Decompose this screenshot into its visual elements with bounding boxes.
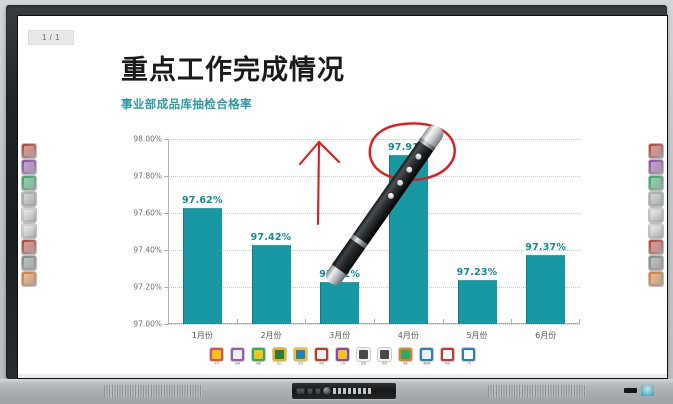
y-axis-tick-mark [164,139,168,140]
icon-glyph [651,162,661,172]
icon-glyph [651,226,661,236]
icon-glyph [443,350,452,359]
undo-tool-icon[interactable] [649,208,663,222]
stylus-button-4[interactable] [387,192,395,200]
gridline [168,324,580,325]
ribbon-item-label: 审阅 [319,362,324,365]
y-axis-tick-label: 97.00% [133,320,162,329]
color-palette-tool-icon[interactable] [649,176,663,190]
slideshow-tab[interactable]: 播放器 [419,348,435,365]
insert-tab[interactable]: 插入 [272,348,288,365]
chart-bar[interactable] [526,255,565,324]
ribbon-item-label: 段落 [361,362,366,365]
ribbon-item-label: 帮助 [445,362,450,365]
display-screen[interactable]: 1 / 1 重点工作完成情况 事业部成品库抽检合格率 97.62%97.42%9… [18,16,667,378]
x-axis-label: 2月份 [237,326,306,346]
select-cursor-tool-icon[interactable] [22,144,36,158]
eraser-tool-icon[interactable] [22,192,36,206]
ribbon-item-label: 版式 [382,362,387,365]
chart-bar[interactable] [252,245,291,324]
upload-tab[interactable]: 上传 [461,348,477,365]
ribbon-item-label: 工具 [340,362,345,365]
edit-icon[interactable] [231,348,244,361]
view-tab[interactable]: 视图 [251,348,267,365]
icon-glyph [296,350,305,359]
capture-tool-icon[interactable] [649,256,663,270]
review-tab[interactable]: 审阅 [314,348,330,365]
icon-glyph [651,210,661,220]
panel-button-8[interactable] [368,388,371,394]
review-icon[interactable] [315,348,328,361]
tools-icon[interactable] [336,348,349,361]
panel-button-4[interactable] [348,388,351,394]
ribbon-item-label: 上传 [466,362,471,365]
bottom-ribbon-toolbar[interactable]: 文件编辑视图插入格式审阅工具段落版式图表播放器帮助上传 [18,348,667,374]
chart-icon[interactable] [399,348,412,361]
panel-button-1[interactable] [333,388,336,394]
icon-glyph [24,162,34,172]
speaker-grille-right [488,385,586,398]
help-tab[interactable]: 帮助 [440,348,456,365]
power-knob[interactable] [323,387,331,395]
y-axis-tick-label: 98.00% [133,135,162,144]
device-chassis [0,379,673,404]
chart-bar-slot[interactable]: 97.62% [168,139,237,324]
capture-tool-icon[interactable] [22,256,36,270]
delete-tool-icon[interactable] [649,240,663,254]
speaker-grille-left [104,385,202,398]
y-axis-tick-mark [164,213,168,214]
chart-bar-slot[interactable]: 97.23% [443,139,512,324]
y-axis-tick-label: 97.80% [133,172,162,181]
icon-glyph [24,274,34,284]
icon-glyph [651,274,661,284]
panel-button-7[interactable] [363,388,366,394]
icon-glyph [359,350,368,359]
y-axis-tick-label: 97.40% [133,246,162,255]
y-axis-tick-mark [164,250,168,251]
y-axis-tick-mark [164,324,168,325]
icon-glyph [651,146,661,156]
upload-icon[interactable] [462,348,475,361]
display-bezel: 1 / 1 重点工作完成情况 事业部成品库抽检合格率 97.62%97.42%9… [6,5,667,379]
icon-glyph [422,350,431,359]
x-axis-labels: 1月份2月份3月份4月份5月份6月份 [168,326,580,346]
icon-glyph [651,178,661,188]
x-axis-label: 3月份 [305,326,374,346]
redo-tool-icon[interactable] [649,224,663,238]
stylus-button-1[interactable] [414,152,422,160]
ribbon-item-label: 格式 [298,362,303,365]
undo-tool-icon[interactable] [22,208,36,222]
side-usb-port[interactable] [624,388,637,393]
usb-port-a[interactable] [307,388,313,395]
paragraph-tab[interactable]: 段落 [356,348,372,365]
panel-button-3[interactable] [343,388,346,394]
redo-tool-icon[interactable] [22,224,36,238]
panel-button-5[interactable] [353,388,356,394]
icon-glyph [651,194,661,204]
icon-glyph [212,350,221,359]
page-indicator: 1 / 1 [28,30,74,45]
y-axis-tick-mark [164,176,168,177]
x-axis-tick-mark [374,319,375,324]
audio-jack[interactable] [315,388,321,395]
icon-glyph [233,350,242,359]
icon-glyph [317,350,326,359]
layout-tab[interactable]: 版式 [377,348,393,365]
icon-glyph [24,242,34,252]
ribbon-item-label: 文件 [214,362,219,365]
insert-icon[interactable] [273,348,286,361]
eraser-tool-icon[interactable] [649,192,663,206]
stylus-button-3[interactable] [396,179,404,187]
panel-button-6[interactable] [358,388,361,394]
icon-glyph [651,242,661,252]
pen-tool-icon[interactable] [22,160,36,174]
icon-glyph [401,350,410,359]
chart-bar-slot[interactable]: 97.37% [511,139,580,324]
x-axis-tick-mark [443,319,444,324]
x-axis-label: 5月份 [443,326,512,346]
color-palette-tool-icon[interactable] [22,176,36,190]
stylus-button-2[interactable] [405,166,413,174]
edit-tab[interactable]: 编辑 [230,348,246,365]
interactive-whiteboard-device: 1 / 1 重点工作完成情况 事业部成品库抽检合格率 97.62%97.42%9… [0,0,673,404]
x-axis-tick-mark [511,319,512,324]
icon-glyph [254,350,263,359]
x-axis-tick-mark [168,319,169,324]
file-icon[interactable] [210,348,223,361]
presentation-slide[interactable]: 1 / 1 重点工作完成情况 事业部成品库抽检合格率 97.62%97.42%9… [18,16,667,378]
delete-tool-icon[interactable] [22,240,36,254]
ribbon-item-label: 播放器 [423,362,430,365]
ribbon-item-label: 视图 [256,362,261,365]
pen-tool-icon[interactable] [649,160,663,174]
chart-bar-slot[interactable]: 97.42% [237,139,306,324]
icon-glyph [338,350,347,359]
icon-glyph [24,146,34,156]
paragraph-icon[interactable] [357,348,370,361]
chart-bar[interactable] [458,280,497,324]
icon-glyph [24,226,34,236]
brand-logo [641,385,654,396]
right-side-toolbar[interactable] [646,144,666,286]
icon-glyph [464,350,473,359]
ribbon-item-label: 图表 [403,362,408,365]
keyboard-tool-icon[interactable] [22,272,36,286]
hdmi-port[interactable] [296,388,305,395]
format-icon[interactable] [294,348,307,361]
chart-tab[interactable]: 图表 [398,348,414,365]
bar-value-label: 97.23% [457,267,498,278]
x-axis-tick-mark [579,319,580,324]
icon-glyph [24,210,34,220]
ribbon-divider [18,374,667,378]
bar-value-label: 97.62% [182,195,223,206]
left-side-toolbar[interactable] [19,144,39,286]
icon-glyph [24,194,34,204]
x-axis-label: 6月份 [511,326,580,346]
help-icon[interactable] [441,348,454,361]
format-tab[interactable]: 格式 [293,348,309,365]
y-axis-tick-mark [164,287,168,288]
icon-glyph [380,350,389,359]
chart-bar[interactable] [183,208,222,324]
bar-value-label: 97.42% [251,232,292,243]
icon-glyph [275,350,284,359]
front-control-panel[interactable] [292,383,396,399]
ribbon-item-label: 编辑 [235,362,240,365]
tools-tab[interactable]: 工具 [335,348,351,365]
slide-subtitle: 事业部成品库抽检合格率 [121,96,252,112]
file-tab[interactable]: 文件 [209,348,225,365]
icon-glyph [24,178,34,188]
y-axis-tick-label: 97.60% [133,209,162,218]
chart-bar[interactable] [320,282,359,324]
slideshow-icon[interactable] [420,348,433,361]
icon-glyph [24,258,34,268]
y-axis-tick-label: 97.20% [133,283,162,292]
x-axis-label: 4月份 [374,326,443,346]
view-icon[interactable] [252,348,265,361]
keyboard-tool-icon[interactable] [649,272,663,286]
icon-glyph [651,258,661,268]
ribbon-item-label: 插入 [277,362,282,365]
bar-value-label: 97.37% [525,242,566,253]
select-cursor-tool-icon[interactable] [649,144,663,158]
panel-button-2[interactable] [338,388,341,394]
x-axis-label: 1月份 [168,326,237,346]
layout-icon[interactable] [378,348,391,361]
x-axis-tick-mark [305,319,306,324]
x-axis-tick-mark [237,319,238,324]
page-title: 重点工作完成情况 [121,48,345,87]
